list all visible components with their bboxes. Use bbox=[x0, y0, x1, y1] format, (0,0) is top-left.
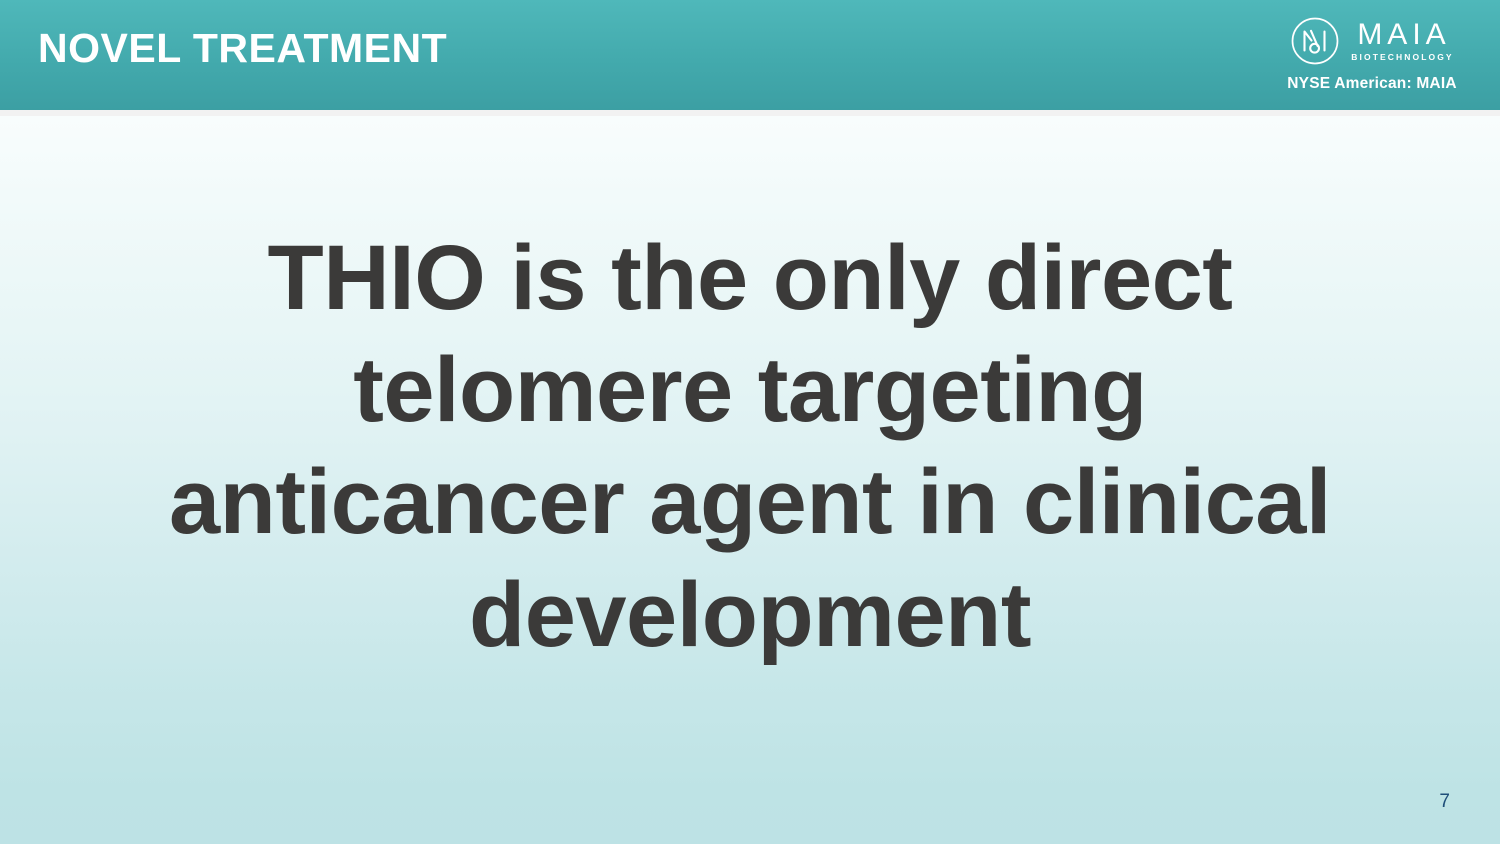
maia-monogram-icon bbox=[1290, 16, 1340, 66]
page-number: 7 bbox=[1439, 792, 1450, 811]
slide-headline: THIO is the only direct telomere targeti… bbox=[150, 222, 1350, 671]
page-title: NOVEL TREATMENT bbox=[38, 28, 447, 69]
brand-logo-lockup: MAIA BIOTECHNOLOGY NYSE American: MAIA bbox=[1272, 12, 1472, 93]
logo-name: MAIA bbox=[1352, 20, 1450, 50]
header-underline bbox=[0, 110, 1500, 116]
logo-wordmark: MAIA BIOTECHNOLOGY bbox=[1349, 20, 1453, 62]
stock-ticker-label: NYSE American: MAIA bbox=[1272, 75, 1472, 93]
logo-row: MAIA BIOTECHNOLOGY bbox=[1272, 12, 1472, 70]
presentation-slide: NOVEL TREATMENT MAIA BIOTECHNOLOGY NYSE … bbox=[0, 0, 1500, 844]
logo-subtitle: BIOTECHNOLOGY bbox=[1349, 53, 1453, 62]
